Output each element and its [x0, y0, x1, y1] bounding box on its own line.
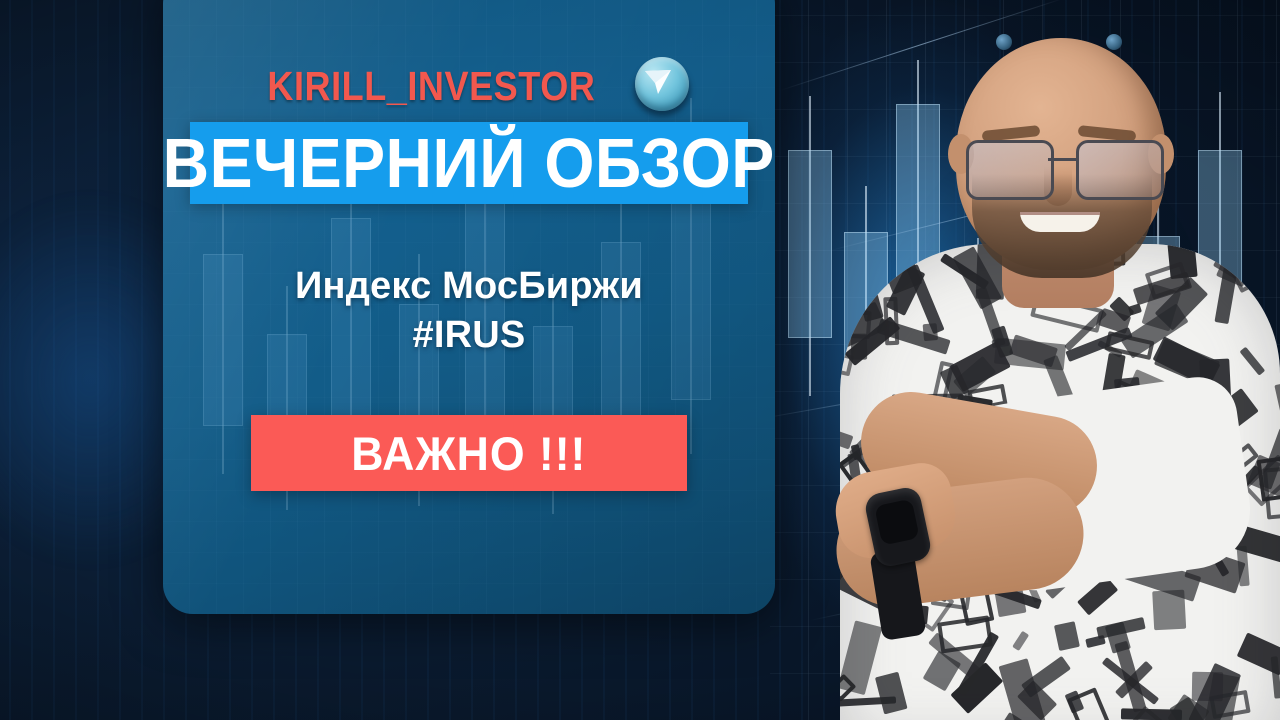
presenter-eye-right: [1106, 34, 1122, 50]
graffiti-mark: [1054, 621, 1080, 651]
subtitle-block: Индекс МосБиржи #IRUS: [295, 262, 643, 359]
paper-plane-glyph: [643, 67, 673, 97]
eyeglass-lens-left: [966, 140, 1054, 200]
graffiti-mark: [1239, 347, 1264, 376]
content-card: KIRILL_INVESTOR ВЕЧЕРНИЙ ОБЗОР Индекс Мо…: [163, 0, 775, 614]
graffiti-mark: [875, 672, 908, 715]
presenter-photo: [806, 16, 1280, 720]
headline-banner: ВЕЧЕРНИЙ ОБЗОР: [190, 122, 748, 204]
thumbnail-canvas: KIRILL_INVESTOR ВЕЧЕРНИЙ ОБЗОР Индекс Мо…: [0, 0, 1280, 720]
eyeglass-bridge: [1048, 158, 1076, 161]
graffiti-mark: [840, 244, 869, 271]
presenter-mouth: [1020, 212, 1100, 232]
eyeglasses-icon: [966, 140, 1158, 198]
eyeglass-lens-right: [1076, 140, 1164, 200]
graffiti-mark: [1013, 631, 1030, 651]
graffiti-mark: [883, 297, 899, 346]
headline-text: ВЕЧЕРНИЙ ОБЗОР: [163, 128, 775, 198]
presenter-eye-left: [996, 34, 1012, 50]
telegram-icon[interactable]: [631, 55, 693, 117]
subtitle-line-2: #IRUS: [295, 311, 643, 360]
important-button[interactable]: ВАЖНО !!!: [251, 415, 687, 491]
brand-row: KIRILL_INVESTOR: [245, 58, 694, 114]
channel-name: KIRILL_INVESTOR: [267, 66, 595, 107]
graffiti-mark: [1191, 672, 1222, 701]
graffiti-mark: [1128, 303, 1142, 315]
subtitle-line-1: Индекс МосБиржи: [295, 265, 643, 307]
important-button-label: ВАЖНО !!!: [351, 430, 586, 477]
graffiti-mark: [1153, 589, 1187, 629]
